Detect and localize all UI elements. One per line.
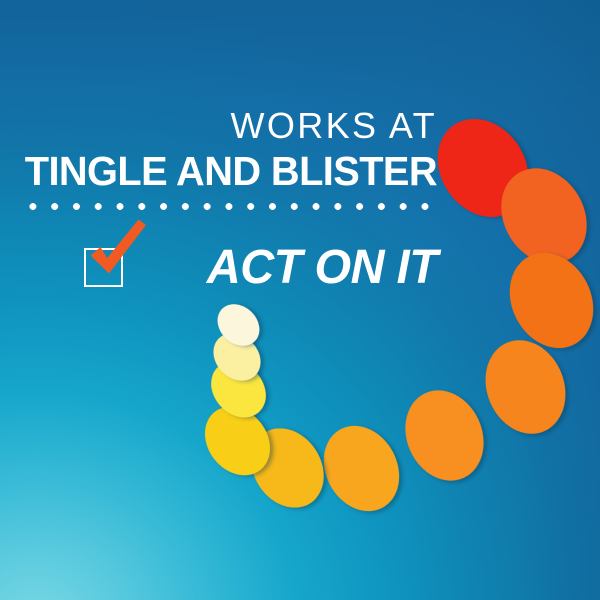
dotted-divider	[22, 203, 436, 210]
headline-line-1: WORKS AT	[0, 106, 437, 146]
copy-block: WORKS AT TINGLE AND BLISTER ACT ON IT	[0, 0, 600, 600]
checkmark-icon	[80, 214, 154, 288]
cta-label: ACT ON IT	[206, 240, 437, 296]
ad-banner: WORKS AT TINGLE AND BLISTER ACT ON IT	[0, 0, 600, 600]
headline-line-2: TINGLE AND BLISTER	[13, 148, 437, 194]
call-to-action-row: ACT ON IT	[84, 236, 437, 302]
